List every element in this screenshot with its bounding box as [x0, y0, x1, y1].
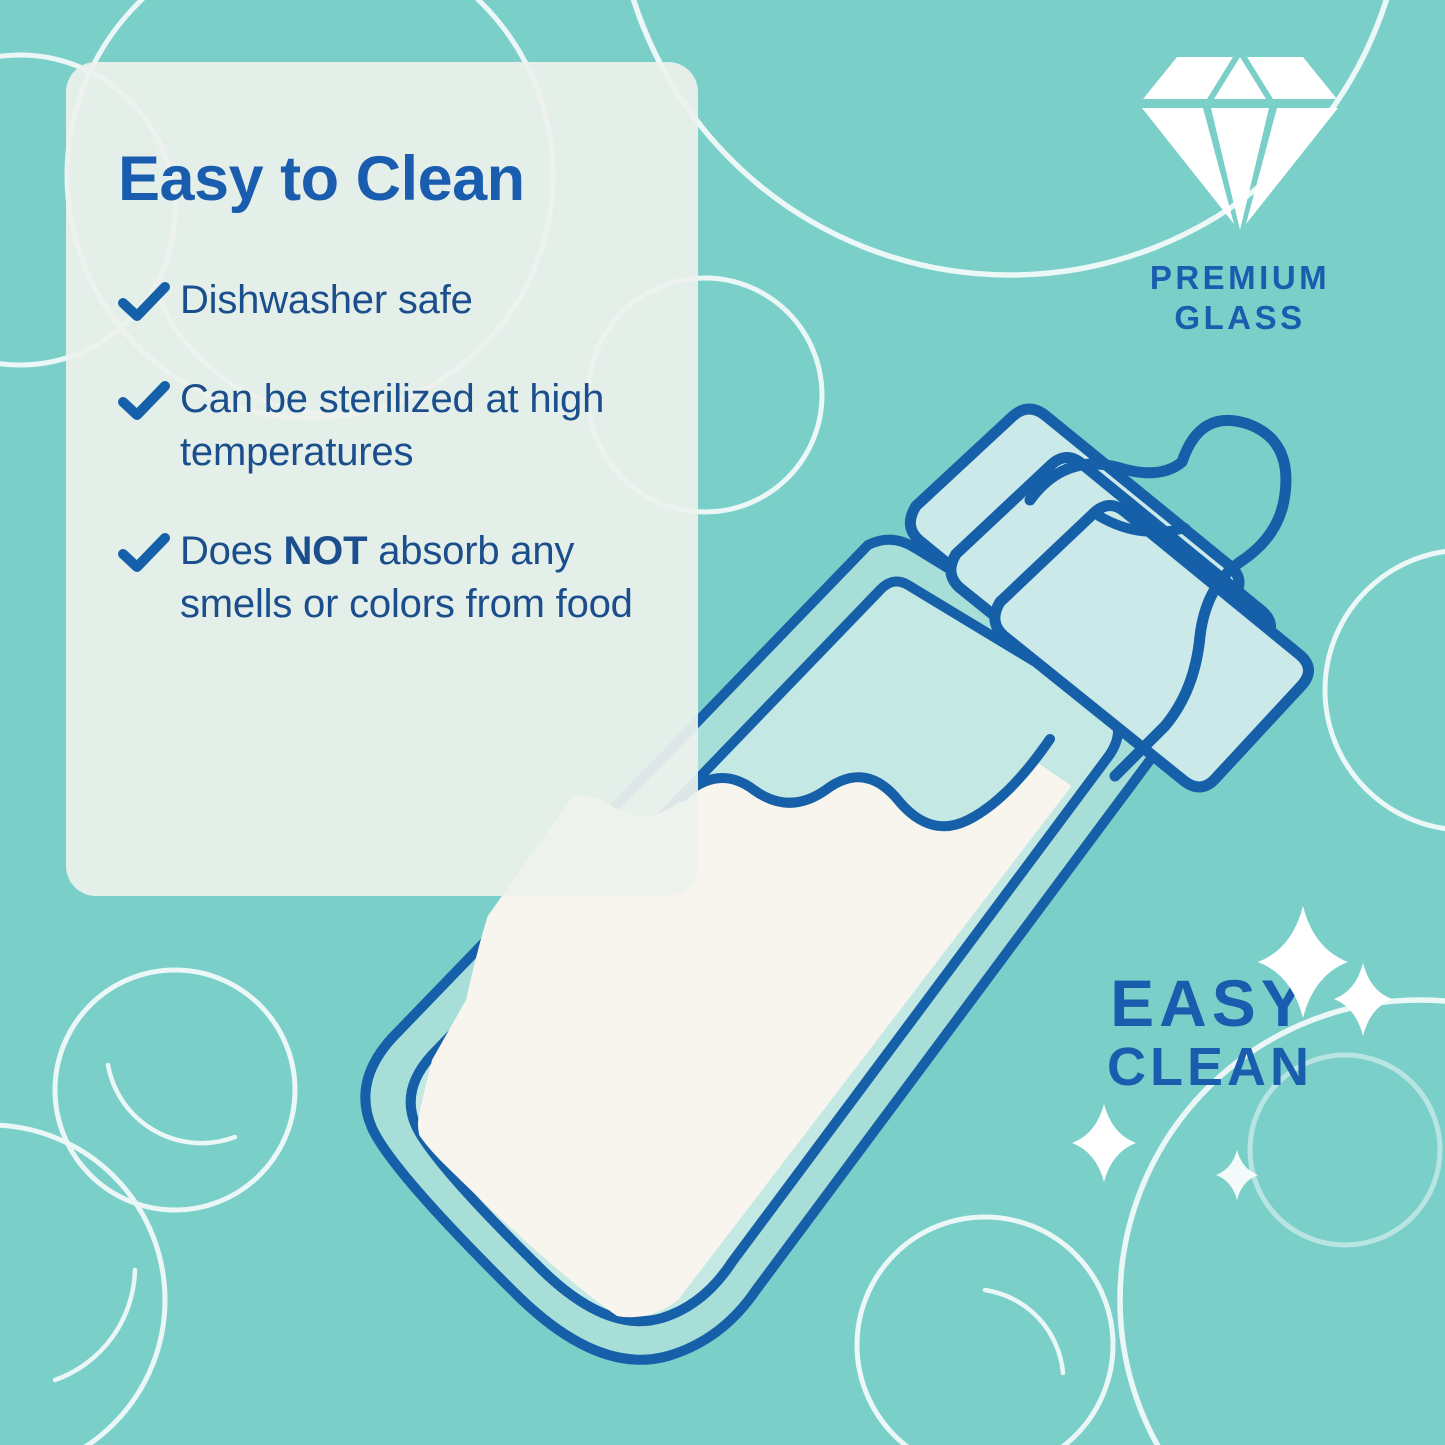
premium-glass-badge: PREMIUM GLASS	[1095, 52, 1385, 339]
bullet-text-3-emphasis: NOT	[284, 529, 368, 573]
check-icon	[118, 525, 180, 578]
page-title: Easy to Clean	[118, 146, 658, 212]
easy-clean-badge: EASY CLEAN	[1055, 970, 1365, 1100]
easy-clean-line-1: EASY	[1055, 970, 1365, 1036]
premium-line-1: PREMIUM	[1095, 258, 1385, 298]
info-card-content: Easy to Clean Dishwasher safe Can be ste…	[66, 62, 698, 896]
list-item-label: Does NOT absorb any smells or colors fro…	[180, 525, 658, 631]
bullet-text-1: Dishwasher safe	[180, 278, 473, 322]
bullet-text-2: Can be sterilized at high temperatures	[180, 377, 604, 474]
list-item: Can be sterilized at high temperatures	[118, 373, 658, 479]
check-icon	[118, 373, 180, 426]
check-icon	[118, 274, 180, 327]
list-item: Dishwasher safe	[118, 274, 658, 327]
list-item-label: Can be sterilized at high temperatures	[180, 373, 658, 479]
premium-glass-label: PREMIUM GLASS	[1095, 258, 1385, 339]
list-item: Does NOT absorb any smells or colors fro…	[118, 525, 658, 631]
diamond-icon	[1141, 52, 1339, 237]
list-item-label: Dishwasher safe	[180, 274, 473, 327]
premium-line-2: GLASS	[1095, 298, 1385, 338]
poster-canvas: Easy to Clean Dishwasher safe Can be ste…	[0, 0, 1445, 1445]
bullet-text-3-before: Does	[180, 529, 284, 573]
easy-clean-line-2: CLEAN	[1055, 1036, 1365, 1100]
